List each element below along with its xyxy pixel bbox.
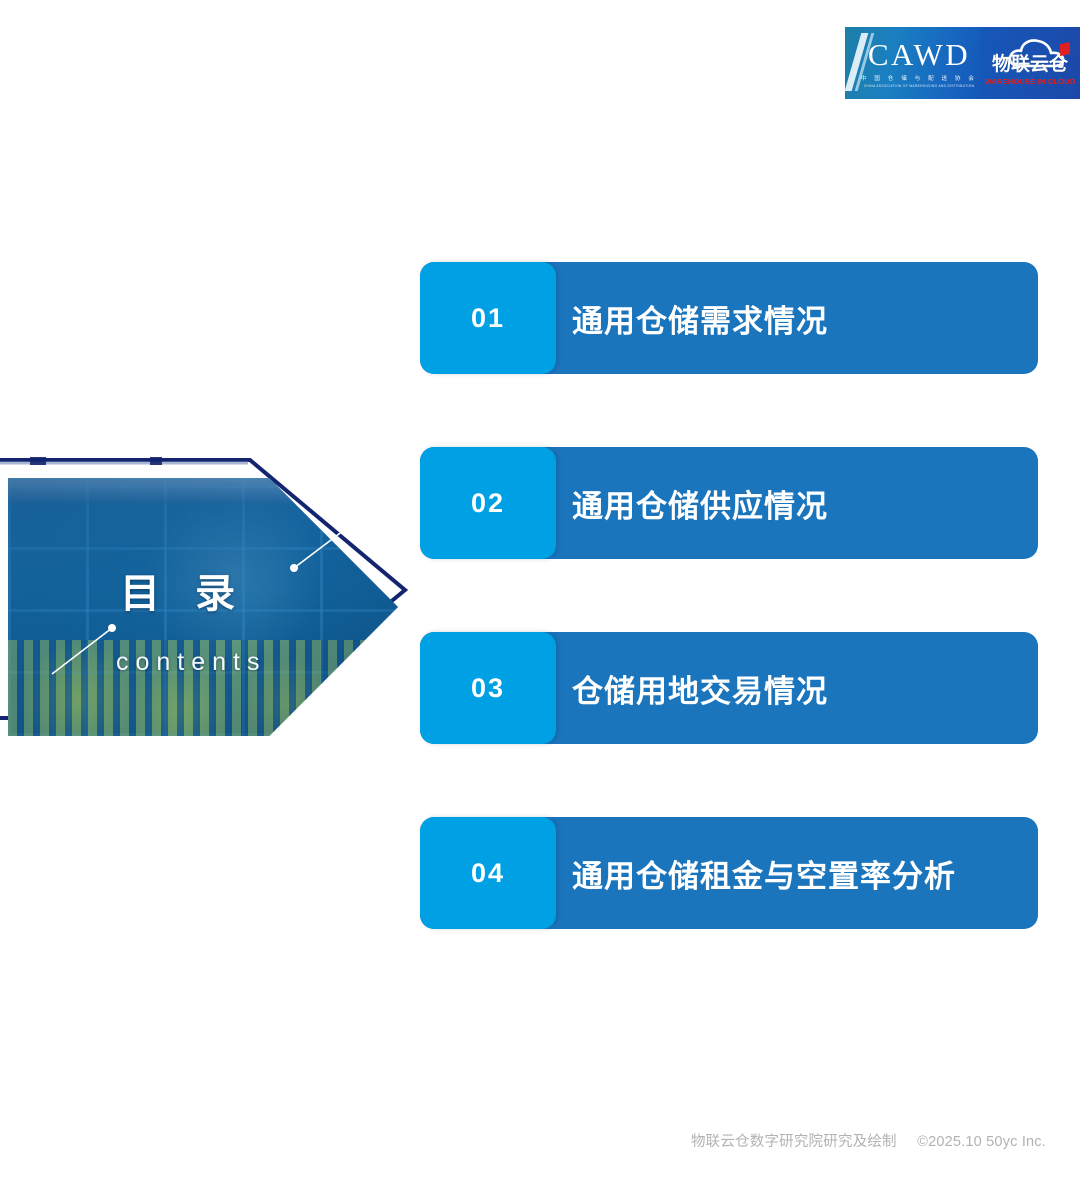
item-number-badge: 04 [420, 817, 556, 929]
wlyc-brand-en: WAREHOUSE IN CLOUD [984, 77, 1075, 86]
contents-item-01[interactable]: 01 通用仓储需求情况 [420, 262, 1038, 374]
footer-credit: 物联云仓数字研究院研究及绘制 [691, 1134, 897, 1150]
contents-item-02[interactable]: 02 通用仓储供应情况 [420, 447, 1038, 559]
item-label: 仓储用地交易情况 [572, 632, 828, 744]
item-number: 04 [471, 860, 505, 887]
item-number-badge: 01 [420, 262, 556, 374]
brand-logo-bar: CAWD 中 国 仓 储 与 配 送 协 会 CHINA ASSOCIATION… [845, 27, 1080, 99]
hero-title-en: contents [116, 650, 267, 675]
hero-title-cn: 目 录 [120, 574, 247, 614]
item-number: 01 [471, 305, 505, 332]
cawd-english-subtitle: CHINA ASSOCIATION OF WAREHOUSING AND DIS… [861, 84, 977, 88]
contents-hero: 目 录 contents [0, 452, 420, 744]
cawd-wordmark: CAWD [861, 39, 977, 70]
footer-copyright: ©2025.10 50yc Inc. [917, 1134, 1046, 1150]
item-label: 通用仓储租金与空置率分析 [572, 817, 956, 929]
item-number-badge: 03 [420, 632, 556, 744]
contents-item-03[interactable]: 03 仓储用地交易情况 [420, 632, 1038, 744]
hero-caption: 目 录 contents [8, 478, 398, 736]
item-number: 02 [471, 490, 505, 517]
cawd-logo: CAWD 中 国 仓 储 与 配 送 协 会 CHINA ASSOCIATION… [845, 27, 980, 99]
slide-root: CAWD 中 国 仓 储 与 配 送 协 会 CHINA ASSOCIATION… [0, 0, 1080, 1200]
item-label: 通用仓储需求情况 [572, 262, 828, 374]
item-number: 03 [471, 675, 505, 702]
item-label: 通用仓储供应情况 [572, 447, 828, 559]
item-number-badge: 02 [420, 447, 556, 559]
contents-item-04[interactable]: 04 通用仓储租金与空置率分析 [420, 817, 1038, 929]
cawd-chinese-subtitle: 中 国 仓 储 与 配 送 协 会 [861, 74, 977, 82]
footer: 物联云仓数字研究院研究及绘制 ©2025.10 50yc Inc. [0, 1130, 1046, 1151]
wlyc-logo: 物联云仓 WAREHOUSE IN CLOUD [980, 27, 1080, 99]
wlyc-brand-cn: 物联云仓 [992, 49, 1068, 76]
